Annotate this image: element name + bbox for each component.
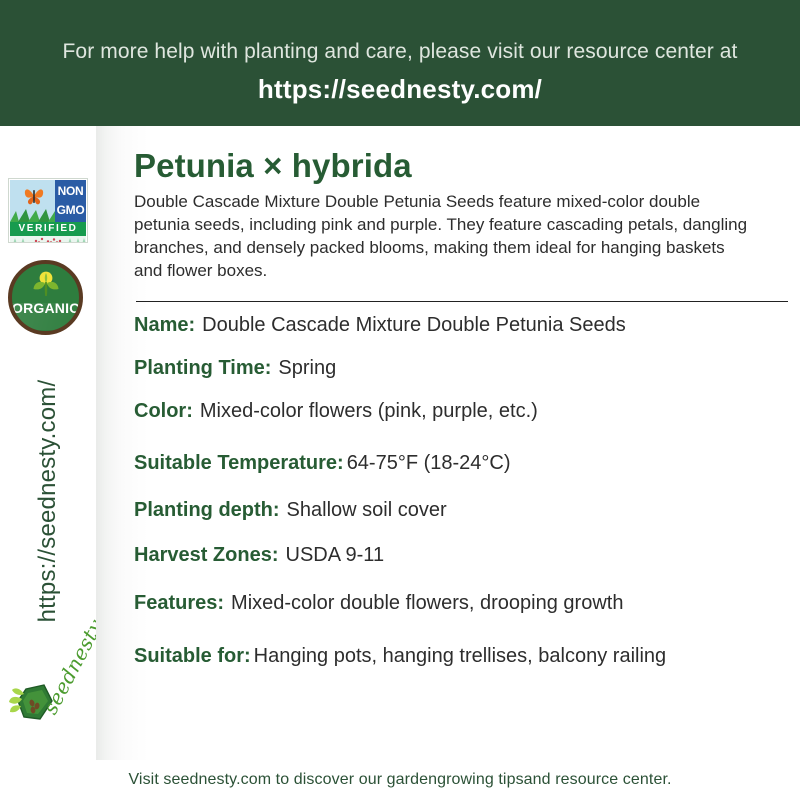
vertical-website-url[interactable]: https://seednesty.com/ <box>0 341 96 661</box>
spec-value: 64-75°F (18-24°C) <box>347 452 511 475</box>
spec-row-planting-time: Planting Time: Spring <box>134 357 794 380</box>
gmo-label: GMO <box>55 201 86 220</box>
spec-value: USDA 9-11 <box>286 544 385 567</box>
grass-icon <box>10 209 57 222</box>
spec-value: Shallow soil cover <box>287 499 447 522</box>
spec-list: Name: Double Cascade Mixture Double Petu… <box>134 314 794 668</box>
butterfly-icon <box>23 186 45 206</box>
footer-text: Visit seednesty.com to discover our gard… <box>128 771 671 789</box>
divider <box>136 301 788 302</box>
spec-row-suitable-temperature: Suitable Temperature: 64-75°F (18-24°C) <box>134 452 794 475</box>
spec-value: Double Cascade Mixture Double Petunia Se… <box>202 314 626 337</box>
spec-label: Color: <box>134 400 193 423</box>
leaf-emblem-icon <box>31 271 61 297</box>
spec-label: Suitable Temperature: <box>134 452 344 475</box>
spec-label: Name: <box>134 314 195 337</box>
spec-row-planting-depth: Planting depth: Shallow soil cover <box>134 499 794 522</box>
seal-sheen <box>8 303 83 330</box>
spec-value: Hanging pots, hanging trellises, balcony… <box>254 645 666 668</box>
vertical-url-text: https://seednesty.com/ <box>34 380 62 623</box>
sidebar-rail: NON GMO VERIFIED <box>0 126 96 760</box>
spec-row-features: Features: Mixed-color double flowers, dr… <box>134 592 794 615</box>
spec-label: Features: <box>134 592 224 615</box>
spec-row-name: Name: Double Cascade Mixture Double Petu… <box>134 314 794 337</box>
spec-value: Mixed-color flowers (pink, purple, etc.) <box>200 400 538 423</box>
header-help-text: For more help with planting and care, pl… <box>63 39 738 64</box>
content-panel: Petunia × hybrida Double Cascade Mixture… <box>96 126 800 760</box>
seed-sprouts-icon <box>10 236 88 243</box>
spec-label: Planting Time: <box>134 357 271 380</box>
spec-label: Harvest Zones: <box>134 544 279 567</box>
non-gmo-box-text: NON GMO <box>55 182 86 220</box>
footer-bar: Visit seednesty.com to discover our gard… <box>0 760 800 800</box>
seed-label-page: For more help with planting and care, pl… <box>0 0 800 800</box>
page-title: Petunia × hybrida <box>134 148 794 185</box>
non-label: NON <box>55 182 86 201</box>
header-banner: For more help with planting and care, pl… <box>0 0 800 126</box>
organic-badge: ORGANIC <box>8 260 83 335</box>
spec-row-suitable-for: Suitable for: Hanging pots, hanging trel… <box>134 645 794 668</box>
spec-label: Planting depth: <box>134 499 280 522</box>
spec-label: Suitable for: <box>134 645 251 668</box>
non-gmo-verified-badge: NON GMO VERIFIED <box>8 178 88 243</box>
spec-row-color: Color: Mixed-color flowers (pink, purple… <box>134 400 794 423</box>
spec-value: Spring <box>278 357 336 380</box>
spec-value: Mixed-color double flowers, drooping gro… <box>231 592 623 615</box>
header-website-url[interactable]: https://seednesty.com/ <box>258 74 542 105</box>
brand-logo: seednesty <box>2 661 96 756</box>
spec-row-harvest-zones: Harvest Zones: USDA 9-11 <box>134 544 794 567</box>
verified-banner: VERIFIED <box>10 222 86 236</box>
product-description: Double Cascade Mixture Double Petunia Se… <box>134 191 754 283</box>
